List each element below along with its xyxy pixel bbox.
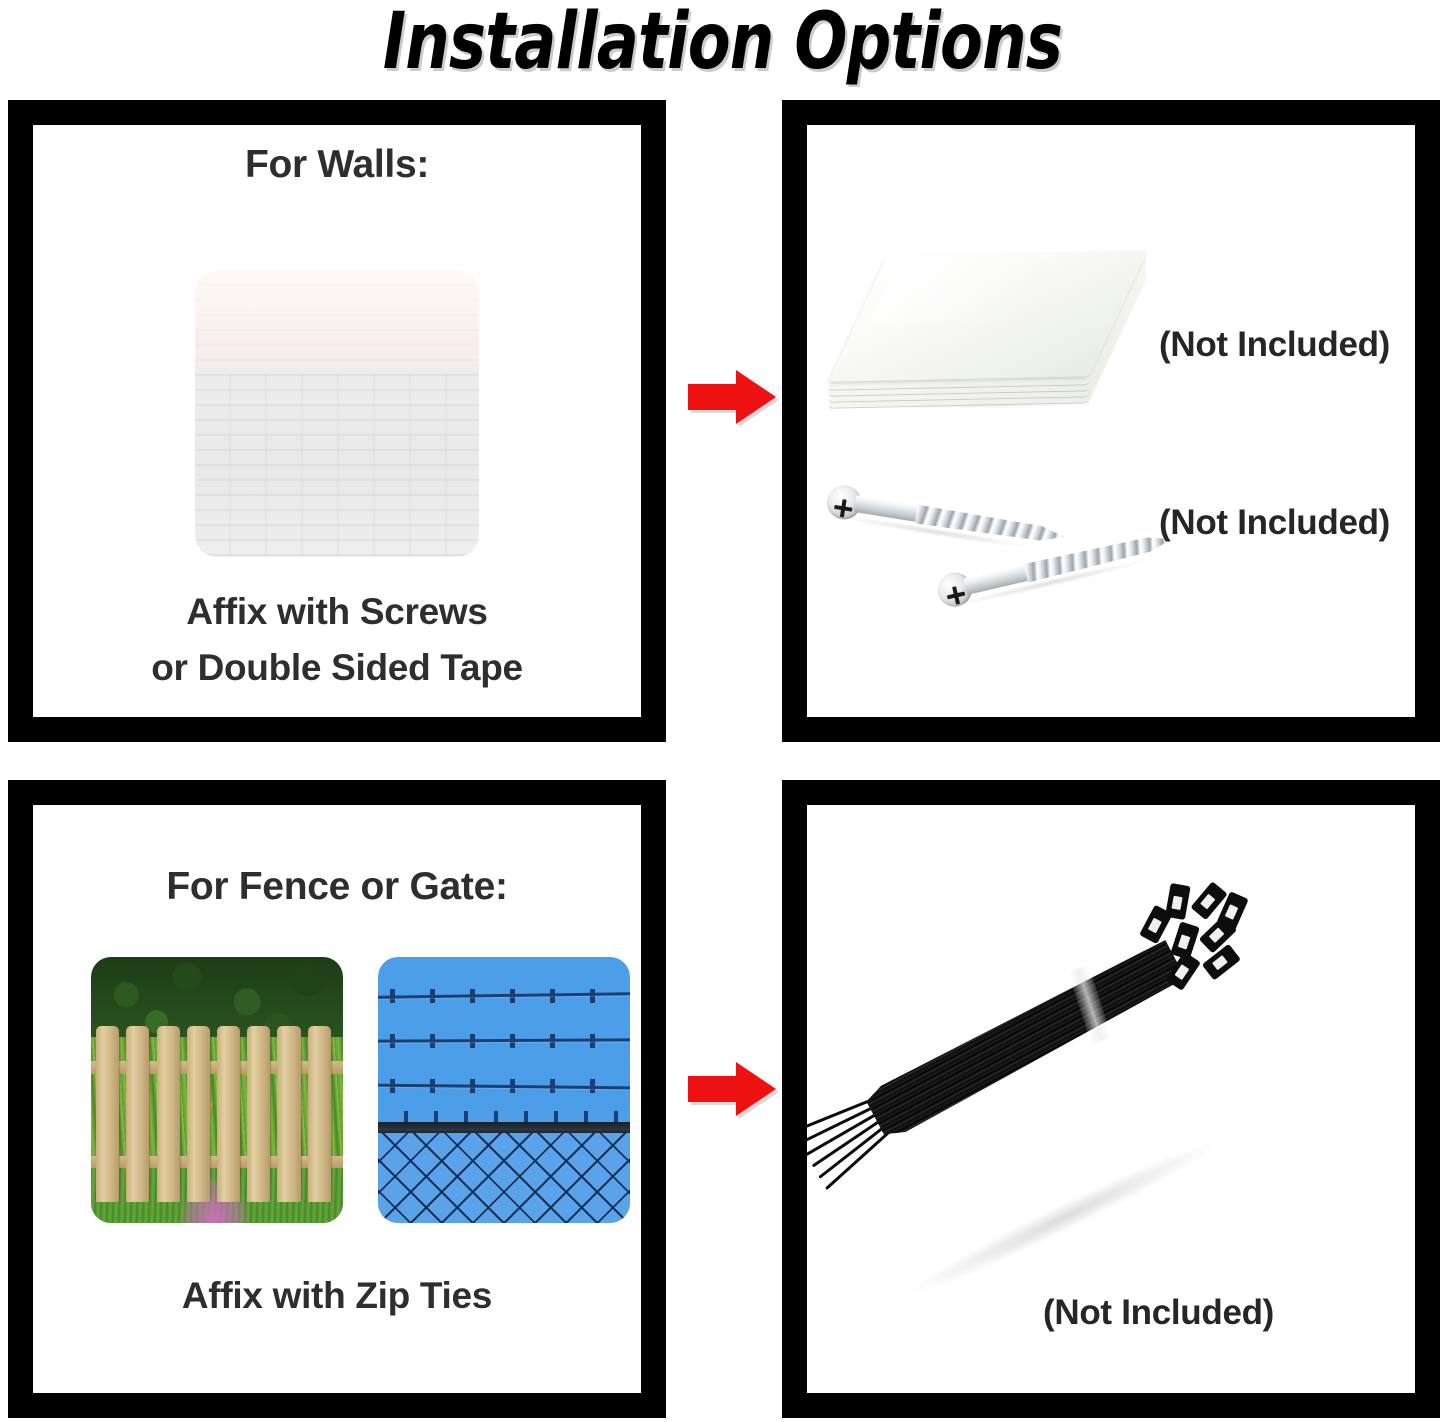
panel-for-walls: For Walls: Affix with Screws or Double S… <box>8 100 666 742</box>
zip-tie-bundle-shadow <box>905 1132 1222 1304</box>
red-right-arrow-icon-bottom <box>688 1060 776 1118</box>
installation-options-infographic: Installation Options For Walls: Affix wi… <box>0 0 1445 1422</box>
zip-tie-head <box>1165 951 1201 990</box>
wooden-picket-fence-photo <box>91 957 343 1223</box>
for-walls-heading: For Walls: <box>33 143 641 187</box>
for-fence-heading: For Fence or Gate: <box>33 865 641 909</box>
screws-not-included-label: (Not Included) <box>1159 503 1390 543</box>
wall-highlight-wash <box>195 271 479 368</box>
chain-link-barbed-wire-fence-photo <box>378 957 630 1223</box>
phillips-slot-icon <box>833 498 854 519</box>
panel-for-fence-or-gate: For Fence or Gate: <box>8 780 666 1418</box>
zip-tie-head <box>1165 883 1191 920</box>
panel-wall-hardware: (Not Included) (Not Included) <box>782 100 1440 742</box>
arrow-body <box>688 370 776 424</box>
picket-slat <box>187 1026 210 1202</box>
picket-slat <box>247 1026 270 1202</box>
for-walls-caption-line-1: Affix with Screws <box>33 591 641 633</box>
zip-ties-not-included-label: (Not Included) <box>1043 1293 1274 1333</box>
double-sided-tape-stack <box>859 245 1129 420</box>
phillips-slot-icon <box>945 585 967 607</box>
panel-for-walls-content: For Walls: Affix with Screws or Double S… <box>33 125 641 717</box>
panel-for-fence-content: For Fence or Gate: <box>33 805 641 1393</box>
white-brick-wall-swatch <box>195 271 479 557</box>
picket-slat <box>277 1026 300 1202</box>
picket-slats-group <box>91 1026 343 1202</box>
chain-link-mesh <box>378 1133 630 1223</box>
panel-zip-ties: (Not Included) <box>782 780 1440 1418</box>
tape-not-included-label: (Not Included) <box>1159 325 1390 365</box>
for-walls-caption-line-2: or Double Sided Tape <box>33 647 641 689</box>
zip-tie-bundle-body <box>859 890 1263 1149</box>
picket-slat <box>217 1026 240 1202</box>
picket-slat <box>157 1026 180 1202</box>
black-zip-tie-bundle <box>847 933 1317 1313</box>
page-title: Installation Options <box>145 0 1301 88</box>
tape-highlight <box>870 259 1050 321</box>
for-fence-caption: Affix with Zip Ties <box>33 1275 641 1317</box>
picket-slat <box>126 1026 149 1202</box>
panel-wall-hardware-content: (Not Included) (Not Included) <box>807 125 1415 717</box>
picket-slat <box>96 1026 119 1202</box>
panel-zip-ties-content: (Not Included) <box>807 805 1415 1393</box>
arrow-body <box>688 1062 776 1116</box>
zip-tie-strands <box>861 933 1188 1144</box>
red-right-arrow-icon-top <box>688 368 776 426</box>
brick-columns-texture <box>195 374 479 557</box>
picket-slat <box>308 1026 331 1202</box>
